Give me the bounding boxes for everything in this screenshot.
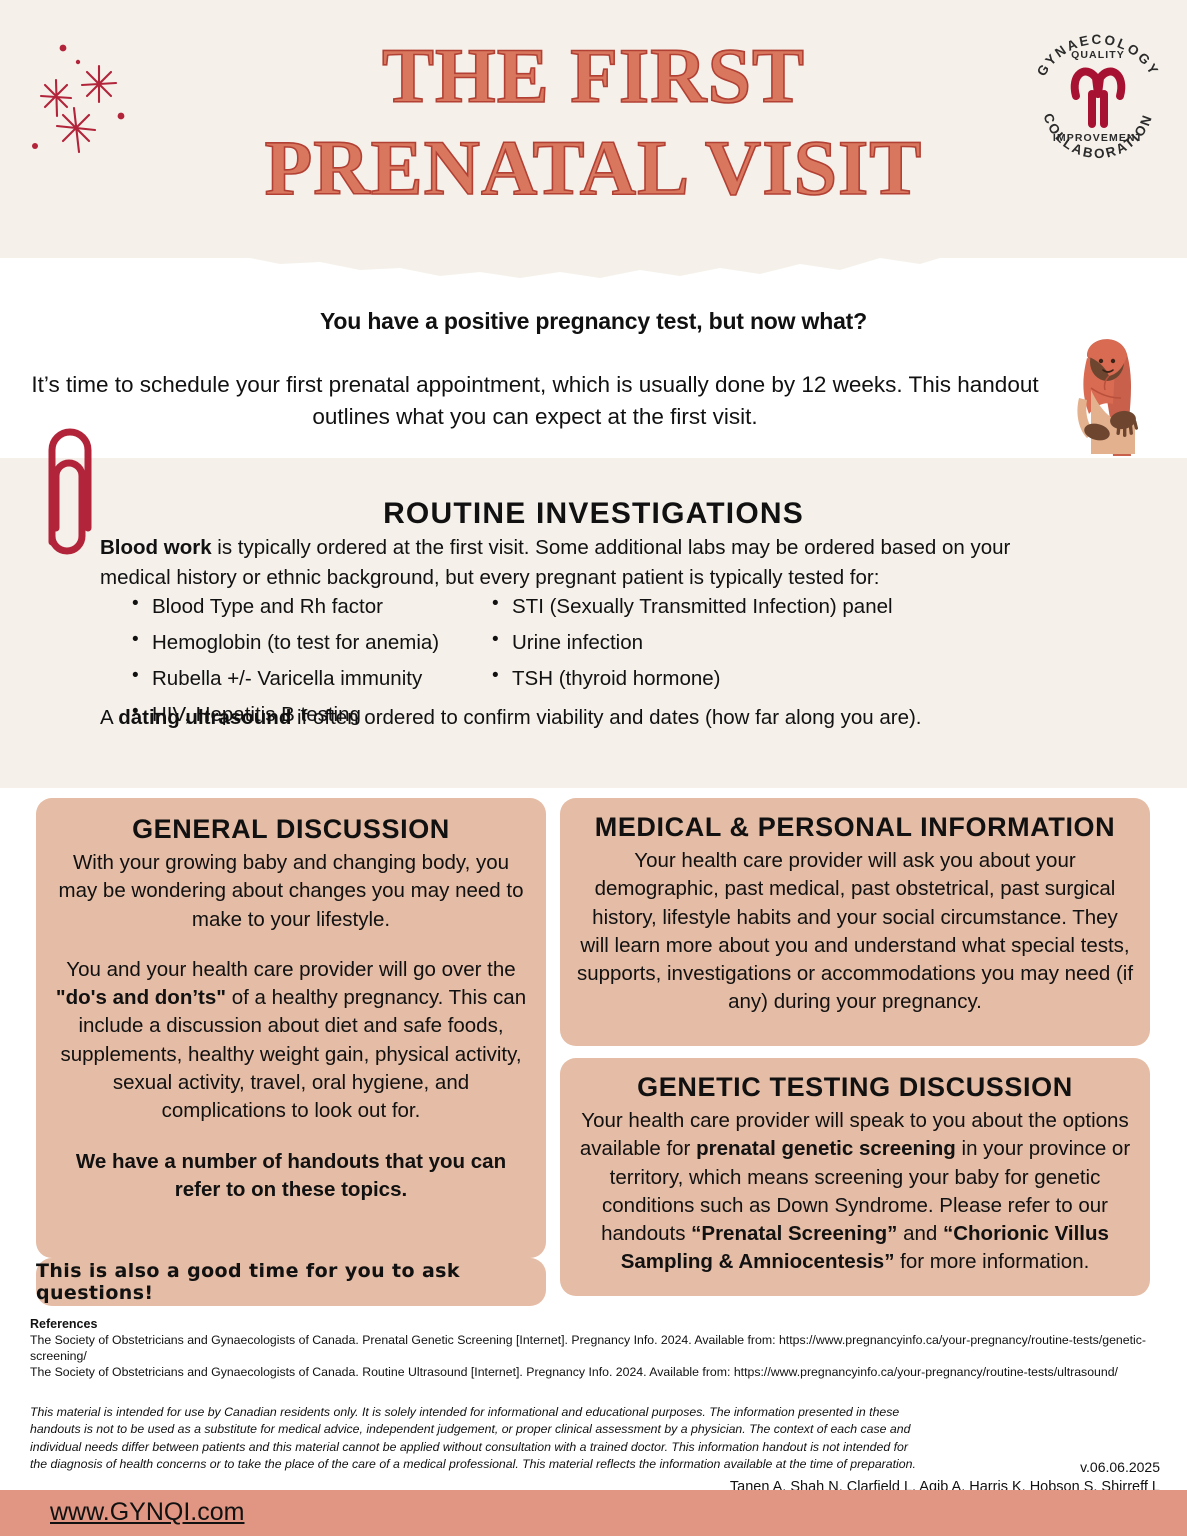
genetic-testing-title: GENETIC TESTING DISCUSSION [576,1072,1134,1103]
page-title: THE FIRST PRENATAL VISIT [0,30,1187,214]
routine-investigations-title: ROUTINE INVESTIGATIONS [0,497,1187,531]
routine-investigations-intro: Blood work is typically ordered at the f… [100,533,1085,594]
note-pre: A [100,706,118,729]
dating-ultrasound-note: A dating ultrasound if often ordered to … [100,706,1140,730]
ask-questions-text: This is also a good time for you to ask … [36,1260,546,1304]
note-post: if often ordered to confirm viability an… [291,706,921,729]
spacer [54,934,528,956]
general-discussion-para-3: We have a number of handouts that you ca… [54,1148,528,1205]
title-part-b: PERSONAL INFORMATION [758,812,1116,842]
prenatal-genetic-screening-bold: prenatal genetic screening [696,1137,956,1160]
reference-item: The Society of Obstetricians and Gynaeco… [30,1333,1160,1365]
reference-item: The Society of Obstetricians and Gynaeco… [30,1365,1160,1381]
version-label: v.06.06.2025 [950,1459,1160,1475]
title-ampersand: & [721,812,757,842]
intro-section: You have a positive pregnancy test, but … [0,286,1187,458]
general-discussion-title: GENERAL DISCUSSION [54,814,528,845]
list-item: Urine infection [484,628,1104,657]
pregnant-woman-illustration [1035,328,1165,464]
bloodwork-bold: Blood work [100,536,212,559]
spacer [54,1126,528,1148]
medical-personal-info-title: MEDICAL & PERSONAL INFORMATION [576,812,1134,843]
genetic-d: for more information. [894,1250,1089,1273]
medical-personal-info-body: Your health care provider will ask you a… [576,847,1134,1017]
references-heading: References [30,1317,1160,1331]
paperclip-icon [36,424,98,564]
general-discussion-card: GENERAL DISCUSSION With your growing bab… [36,798,546,1258]
list-item: TSH (thyroid hormone) [484,664,1104,693]
title-line-2: PRENATAL VISIT [0,122,1187,214]
title-part-a: MEDICAL [595,812,722,842]
list-item: Hemoglobin (to test for anemia) [124,628,484,657]
general-discussion-para-1: With your growing baby and changing body… [54,849,528,934]
list-item: Blood Type and Rh factor [124,592,484,621]
disclaimer-text: This material is intended for use by Can… [30,1404,920,1474]
title-line-1: THE FIRST [0,30,1187,122]
ask-questions-banner: This is also a good time for you to ask … [36,1258,546,1306]
dating-ultrasound-bold: dating ultrasound [118,706,291,729]
prenatal-screening-bold: “Prenatal Screening” [691,1222,897,1245]
genetic-c: and [897,1222,943,1245]
list-item: Rubella +/- Varicella immunity [124,664,484,693]
dos-and-donts-bold: "do's and don’ts" [56,986,226,1009]
handout-page: GYNAECOLOGY COLLABORATION QUALITY IMPROV… [0,0,1187,1536]
medical-personal-info-card: MEDICAL & PERSONAL INFORMATION Your heal… [560,798,1150,1046]
handouts-bold: We have a number of handouts that you ca… [76,1150,506,1201]
footer-bar: www.GYNQI.com [0,1490,1187,1536]
intro-paragraph: It’s time to schedule your first prenata… [30,369,1040,433]
general-discussion-para-2: You and your health care provider will g… [54,956,528,1126]
header-band: GYNAECOLOGY COLLABORATION QUALITY IMPROV… [0,0,1187,258]
website-url-link[interactable]: www.GYNQI.com [50,1498,244,1527]
bloodwork-rest: is typically ordered at the first visit.… [100,536,1010,589]
genetic-testing-card: GENETIC TESTING DISCUSSION Your health c… [560,1058,1150,1296]
list-item: STI (Sexually Transmitted Infection) pan… [484,592,1104,621]
intro-question: You have a positive pregnancy test, but … [0,308,1187,335]
references-section: References The Society of Obstetricians … [30,1317,1160,1381]
genetic-testing-body: Your health care provider will speak to … [576,1107,1134,1277]
para2-a: You and your health care provider will g… [66,958,515,981]
